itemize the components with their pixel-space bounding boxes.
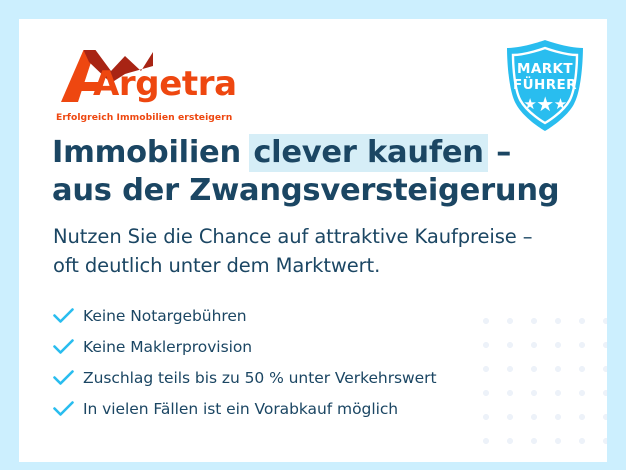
check-icon <box>53 338 83 355</box>
benefit-list: Keine Notargebühren Keine Maklerprovisio… <box>53 300 523 424</box>
logo-tagline: Erfolgreich Immobilien ersteigern <box>56 112 232 123</box>
argetra-logo[interactable]: Argetra Erfolgreich Immobilien ersteiger… <box>55 44 255 126</box>
check-icon <box>53 369 83 386</box>
list-item-label: Keine Notargebühren <box>83 306 247 326</box>
headline-line-2: aus der Zwangsversteigerung <box>52 172 572 210</box>
headline-text-before: Immobilien <box>52 135 251 170</box>
list-item: Keine Maklerprovision <box>53 331 523 362</box>
list-item: Keine Notargebühren <box>53 300 523 331</box>
page-title: Immobilien clever kaufen – aus der Zwang… <box>52 134 572 210</box>
market-leader-badge: MARKT FÜHRER ★★★ <box>495 36 595 136</box>
headline-line-1: Immobilien clever kaufen – <box>52 134 572 172</box>
check-icon <box>53 307 83 324</box>
shield-badge-icon <box>495 36 595 136</box>
headline-text-after: – <box>486 135 511 170</box>
list-item-label: Keine Maklerprovision <box>83 337 252 357</box>
subtitle-line-1: Nutzen Sie die Chance auf attraktive Kau… <box>53 222 563 251</box>
logo-wordmark: Argetra <box>93 67 237 101</box>
list-item-label: Zuschlag teils bis zu 50 % unter Verkehr… <box>83 368 437 388</box>
check-icon <box>53 400 83 417</box>
promo-banner: Argetra Erfolgreich Immobilien ersteiger… <box>0 0 626 470</box>
promo-card: Argetra Erfolgreich Immobilien ersteiger… <box>19 19 607 462</box>
subtitle-line-2: oft deutlich unter dem Marktwert. <box>53 251 563 280</box>
subtitle: Nutzen Sie die Chance auf attraktive Kau… <box>53 222 563 280</box>
list-item-label: In vielen Fällen ist ein Vorabkauf mögli… <box>83 399 398 419</box>
headline-highlight: clever kaufen <box>249 134 487 172</box>
list-item: In vielen Fällen ist ein Vorabkauf mögli… <box>53 393 523 424</box>
list-item: Zuschlag teils bis zu 50 % unter Verkehr… <box>53 362 523 393</box>
